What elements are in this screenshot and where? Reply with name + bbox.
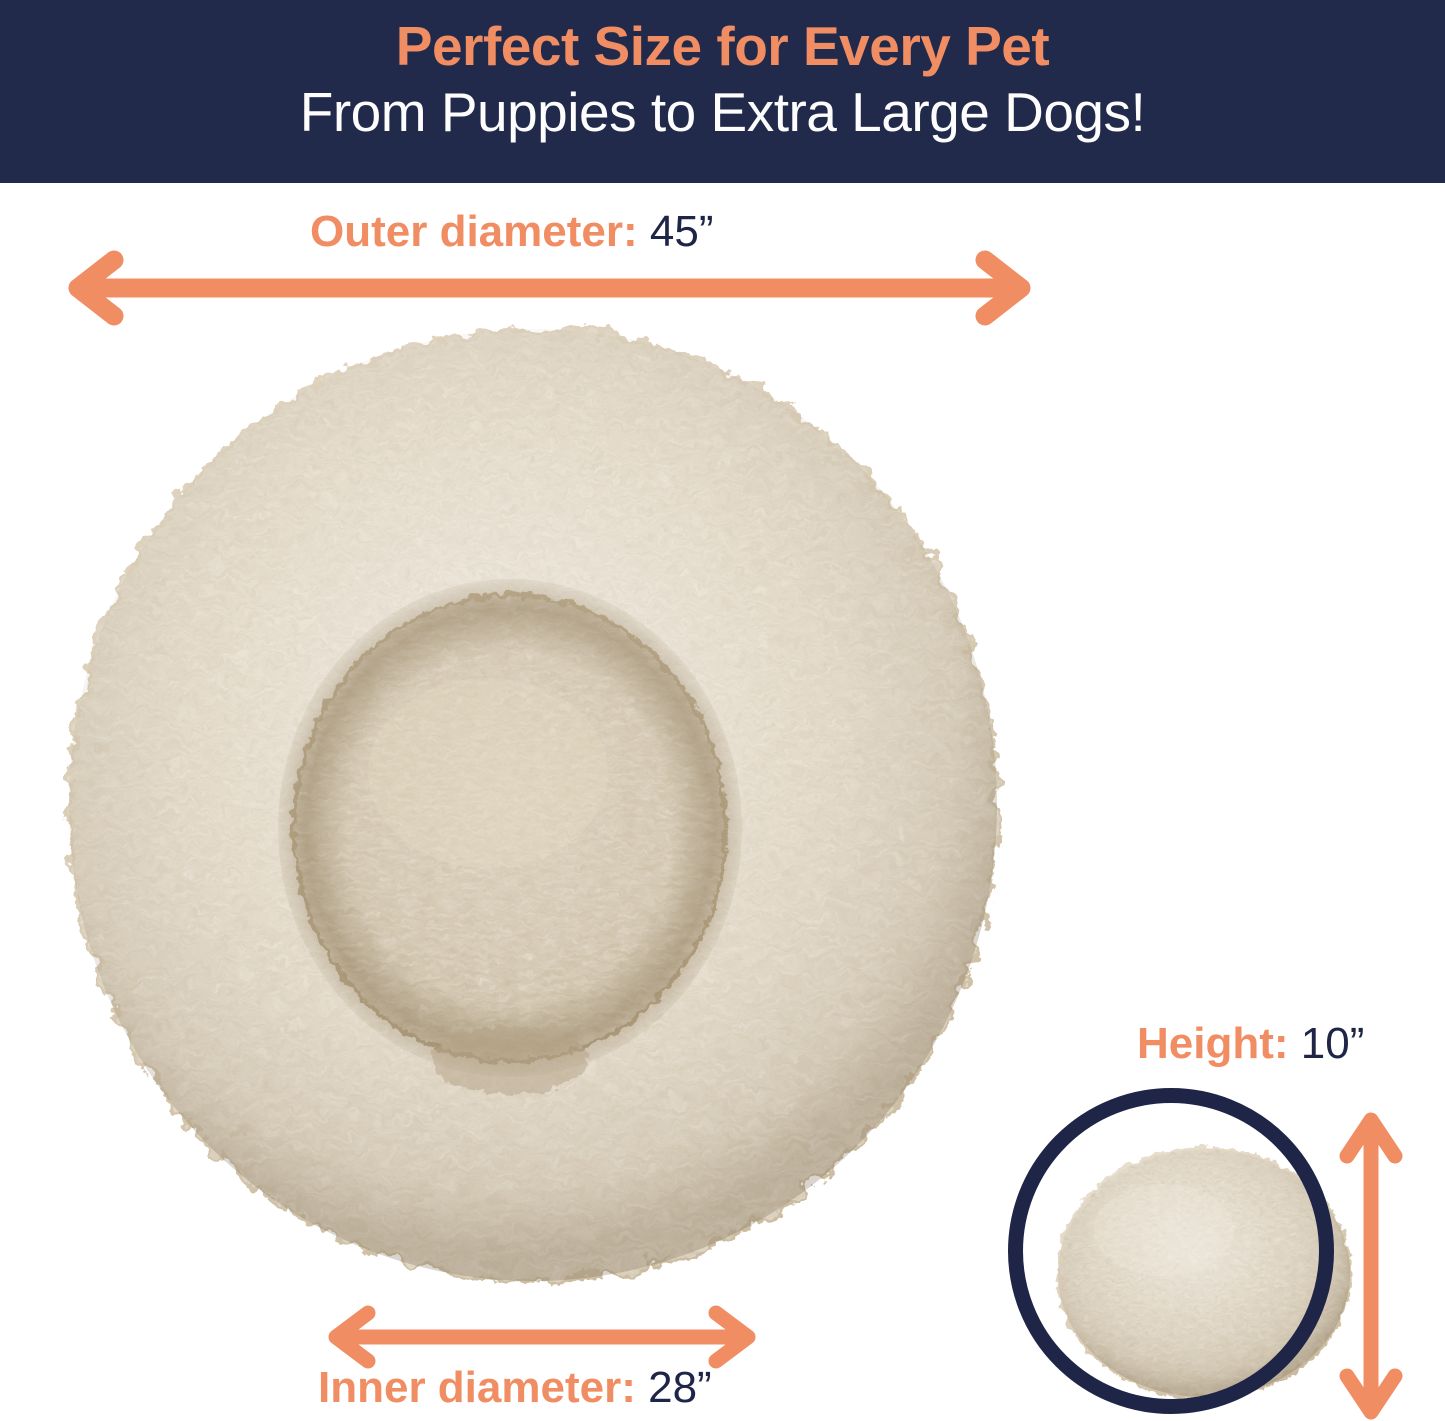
outer-diameter-arrow: [62, 252, 1037, 324]
infographic-page: Perfect Size for Every Pet From Puppies …: [0, 0, 1445, 1421]
height-label-text: Height:: [1137, 1019, 1289, 1068]
page-title: Perfect Size for Every Pet: [0, 14, 1445, 79]
outer-diameter-label-text: Outer diameter:: [310, 207, 638, 256]
pet-bed-main-photo: [58, 318, 1008, 1293]
height-value: 10”: [1301, 1019, 1365, 1068]
outer-diameter-label: Outer diameter: 45”: [310, 210, 713, 254]
outer-diameter-value: 45”: [650, 207, 714, 256]
inner-diameter-label: Inner diameter: 28”: [318, 1366, 712, 1410]
height-label: Height: 10”: [1137, 1022, 1364, 1066]
inner-diameter-value: 28”: [648, 1363, 712, 1412]
inner-diameter-label-text: Inner diameter:: [318, 1363, 636, 1412]
height-inset: [1008, 1088, 1334, 1414]
inner-diameter-arrow: [322, 1306, 762, 1368]
page-subtitle: From Puppies to Extra Large Dogs!: [0, 79, 1445, 145]
header-banner: Perfect Size for Every Pet From Puppies …: [0, 0, 1445, 183]
pet-bed-side-profile-photo: [1052, 1142, 1362, 1404]
